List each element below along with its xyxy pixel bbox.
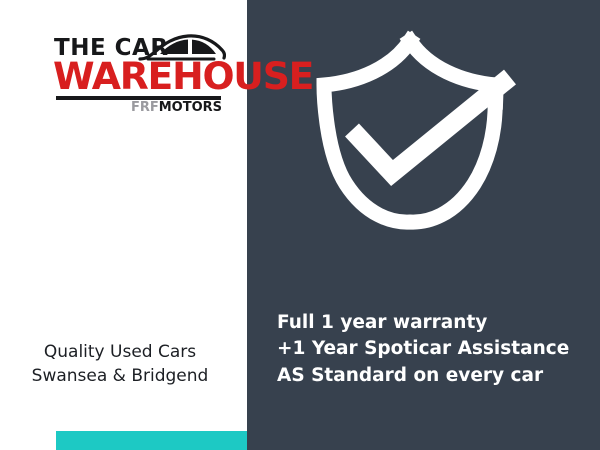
tagline-line-1: Quality Used Cars <box>0 340 240 364</box>
shield-check-icon <box>310 30 527 230</box>
dealership-promo-banner: Full 1 year warranty +1 Year Spoticar As… <box>0 0 600 450</box>
logo-subtitle: FRFMOTORS <box>131 101 222 114</box>
promo-line-1: Full 1 year warranty <box>277 310 597 336</box>
logo-subtitle-frf: FRF <box>131 100 159 115</box>
company-logo: THE CAR WAREHOUSE FRFMOTORS <box>54 32 224 117</box>
tagline-block: Quality Used Cars Swansea & Bridgend <box>0 340 240 388</box>
promo-line-3: AS Standard on every car <box>277 363 597 389</box>
promo-line-2: +1 Year Spoticar Assistance <box>277 336 597 362</box>
logo-line-2: WAREHOUSE <box>53 58 313 95</box>
tagline-line-2: Swansea & Bridgend <box>0 364 240 388</box>
teal-accent-horizontal-bar <box>56 431 258 450</box>
promo-text-block: Full 1 year warranty +1 Year Spoticar As… <box>277 310 597 389</box>
logo-subtitle-motors: MOTORS <box>159 100 222 115</box>
